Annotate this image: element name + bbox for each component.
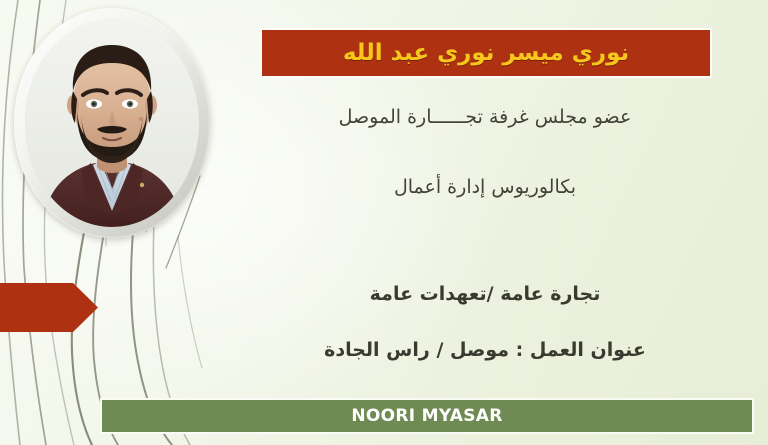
arrow-ribbon-decoration [0,283,98,332]
avatar-photo-clip [25,19,199,227]
detail-work-address: عنوان العمل : موصل / راس الجادة [250,339,720,361]
footer-name-latin: NOORI MYASAR [351,406,502,426]
avatar [14,8,210,238]
footer-banner: NOORI MYASAR [100,398,754,434]
details-block: عضو مجلس غرفة تجــــــارة الموصل بكالوري… [250,96,720,361]
title-banner: نوري ميسر نوري عبد الله [260,28,712,78]
page-title: نوري ميسر نوري عبد الله [343,42,629,65]
detail-education: بكالوريوس إدارة أعمال [250,176,720,198]
portrait-photo [25,19,199,227]
business-card-slide: نوري ميسر نوري عبد الله عضو مجلس غرفة تج… [0,0,768,445]
detail-business-type: تجارة عامة /تعهدات عامة [250,283,720,305]
detail-position: عضو مجلس غرفة تجــــــارة الموصل [250,106,720,128]
